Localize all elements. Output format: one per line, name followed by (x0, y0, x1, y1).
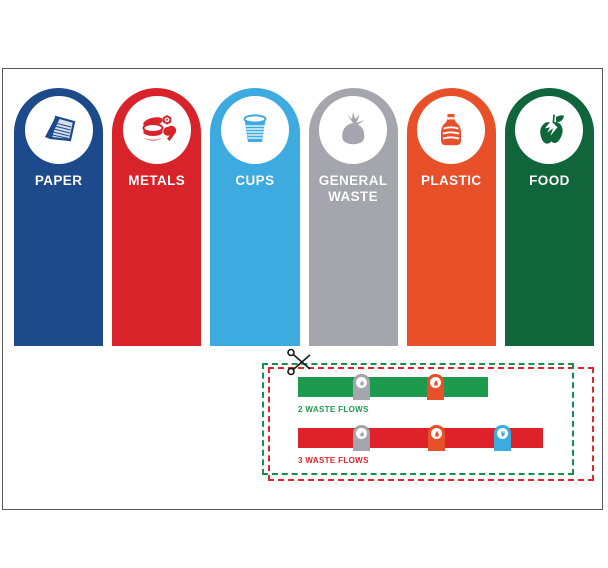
mini-bin-general-waste[interactable] (353, 374, 370, 400)
bin-paper[interactable]: PAPER (14, 88, 103, 346)
bin-badge-metals (123, 96, 191, 164)
general-waste-icon (358, 430, 366, 438)
bin-cups[interactable]: CUPS (210, 88, 299, 346)
mini-bin-cups[interactable] (494, 425, 511, 451)
flow-caption-2: 2 WASTE FLOWS (298, 405, 488, 414)
cups-icon (499, 430, 507, 438)
bin-badge-food (515, 96, 583, 164)
paper-icon (36, 107, 82, 153)
bin-general-waste[interactable]: GENERAL WASTE (309, 88, 398, 346)
mini-bin-general-waste[interactable] (353, 425, 370, 451)
mini-bin-plastic[interactable] (428, 425, 445, 451)
bin-badge-paper (25, 96, 93, 164)
general-waste-icon (330, 107, 376, 153)
general-waste-icon (358, 379, 366, 387)
metals-icon (134, 107, 180, 153)
scissors-icon (284, 347, 314, 377)
bin-label-cups: CUPS (235, 173, 274, 189)
bin-label-plastic: PLASTIC (421, 173, 482, 189)
bin-row: PAPER METALS (14, 88, 594, 346)
bin-label-paper: PAPER (35, 173, 83, 189)
bin-badge-general-waste (319, 96, 387, 164)
bin-badge-plastic (417, 96, 485, 164)
bin-label-food: FOOD (529, 173, 570, 189)
flow-block-3-waste-flows: 3 WASTE FLOWS (298, 428, 543, 465)
mini-badge-general-waste (356, 428, 367, 439)
flow-caption-3: 3 WASTE FLOWS (298, 456, 543, 465)
bin-label-general-waste: GENERAL WASTE (319, 173, 388, 205)
food-icon (526, 107, 572, 153)
bin-label-metals: METALS (128, 173, 185, 189)
cut-out-panel: 2 WASTE FLOWS (262, 363, 594, 481)
bin-metals[interactable]: METALS (112, 88, 201, 346)
mini-badge-cups (497, 428, 508, 439)
plastic-icon (433, 430, 441, 438)
mini-badge-plastic (431, 428, 442, 439)
bin-food[interactable]: FOOD (505, 88, 594, 346)
bin-badge-cups (221, 96, 289, 164)
plastic-icon (432, 379, 440, 387)
bin-plastic[interactable]: PLASTIC (407, 88, 496, 346)
mini-bin-plastic[interactable] (427, 374, 444, 400)
flow-block-2-waste-flows: 2 WASTE FLOWS (298, 377, 488, 414)
mini-badge-plastic (430, 377, 441, 388)
mini-badge-general-waste (356, 377, 367, 388)
flow-bar-3 (298, 428, 543, 448)
cups-icon (232, 107, 278, 153)
flow-bar-2 (298, 377, 488, 397)
plastic-icon (428, 107, 474, 153)
